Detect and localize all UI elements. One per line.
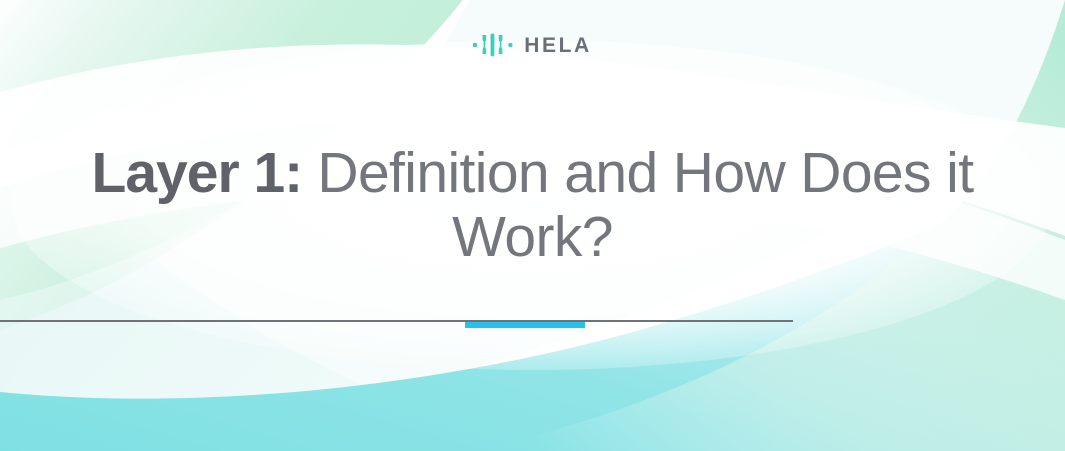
- slide-canvas: HELA Layer 1: Definition and How Does it…: [0, 0, 1065, 451]
- brand-logo[interactable]: HELA: [0, 32, 1065, 58]
- page-title: Layer 1: Definition and How Does it Work…: [0, 142, 1065, 270]
- page-title-rest: Definition and How Does it Work?: [302, 141, 973, 269]
- divider-rule: [0, 320, 793, 322]
- divider-accent-bar: [465, 322, 585, 328]
- brand-wordmark: HELA: [524, 35, 592, 56]
- page-title-emphasis: Layer 1:: [92, 141, 303, 205]
- hela-logo-mark-icon: [473, 32, 515, 58]
